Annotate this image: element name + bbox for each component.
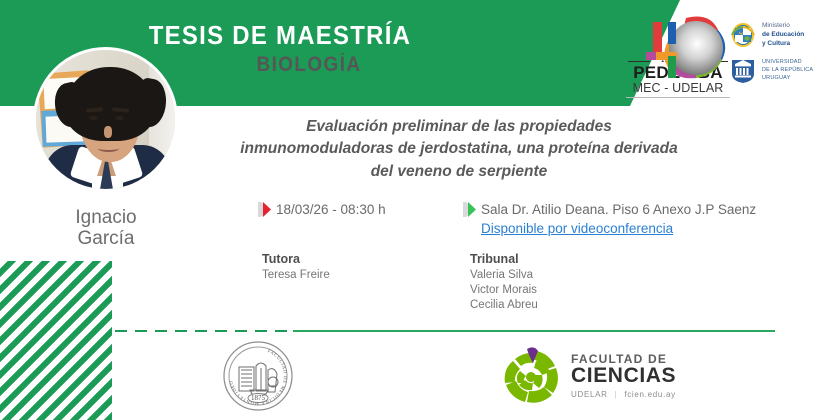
facultad-ciencias-wordmark: FACULTAD DE CIENCIAS UDELAR | fcien.edu.… — [571, 353, 676, 398]
ministry-line3: y Cultura — [762, 40, 804, 49]
student-last-name: García — [10, 229, 202, 250]
arrow-right-red-icon — [258, 202, 271, 217]
ministry-wordmark: Ministerio de Educación y Cultura — [762, 22, 804, 48]
medicina-seal-graphic: FACULTAD DE MEDICINA MONTEVIDEO 1875 — [222, 340, 294, 412]
photo-nose — [104, 126, 112, 138]
ministry-line2: de Educación — [762, 31, 804, 40]
udelar-line2: DE LA REPÚBLICA — [762, 67, 813, 75]
udelar-line3: URUGUAY — [762, 75, 813, 83]
udelar-wordmark: UNIVERSIDAD DE LA REPÚBLICA URUGUAY — [762, 59, 813, 82]
tutora-heading: Tutora — [262, 252, 330, 266]
decorative-diagonal-stripes — [0, 261, 112, 420]
udelar-logo: UNIVERSIDAD DE LA REPÚBLICA URUGUAY — [730, 58, 813, 84]
tribunal-member: Cecilia Abreu — [470, 298, 538, 313]
pedeciba-40-graphic — [624, 12, 732, 96]
photo-eye-left — [89, 116, 98, 120]
svg-text:1875: 1875 — [251, 394, 266, 402]
thesis-title-line1: Evaluación preliminar de las propiedades — [178, 116, 740, 138]
facultad-ciencias-logo: FACULTAD DE CIENCIAS UDELAR | fcien.edu.… — [500, 346, 676, 406]
ministry-line1: Ministerio — [762, 22, 804, 31]
thesis-title-line2: inmunomoduladoras de jerdostatina, una p… — [178, 138, 740, 160]
uruguay-coat-of-arms-icon — [730, 22, 756, 48]
pedeciba-40-logo — [624, 12, 732, 96]
thesis-announcement-poster: TESIS DE MAESTRÍA BIOLOGÍA — [0, 0, 840, 420]
fciencias-line2: CIENCIAS — [571, 365, 676, 387]
thesis-title-line3: del veneno de serpiente — [178, 161, 740, 183]
ministry-logo: Ministerio de Educación y Cultura — [730, 22, 804, 48]
avatar — [33, 47, 178, 192]
photo-eye-right — [115, 116, 124, 120]
event-datetime: 18/03/26 - 08:30 h — [276, 200, 386, 219]
arrow-right-green-icon — [463, 202, 476, 217]
nautilus-shell-icon — [500, 346, 562, 406]
photo-mouth — [98, 145, 119, 152]
event-place: Sala Dr. Atilio Deana. Piso 6 Anexo J.P … — [481, 202, 756, 217]
divider — [115, 330, 775, 332]
event-place-item: Sala Dr. Atilio Deana. Piso 6 Anexo J.P … — [463, 200, 756, 238]
thesis-title: Evaluación preliminar de las propiedades… — [178, 116, 740, 183]
tribunal-block: Tribunal Valeria Silva Victor Morais Cec… — [470, 252, 538, 314]
tribunal-member: Valeria Silva — [470, 268, 538, 283]
student-first-name: Ignacio — [10, 208, 202, 229]
fciencias-separator: | — [615, 390, 618, 399]
fciencias-udelar: UDELAR — [571, 390, 608, 399]
videoconference-link[interactable]: Disponible por videoconferencia — [481, 219, 756, 238]
pedeciba-rule — [626, 97, 730, 98]
udelar-line1: UNIVERSIDAD — [762, 59, 813, 67]
fciencias-line3: UDELAR | fcien.edu.ay — [571, 391, 676, 399]
tutora-block: Tutora Teresa Freire — [262, 252, 330, 283]
page-title: TESIS DE MAESTRÍA — [22, 22, 537, 49]
student-name: Ignacio García — [10, 208, 202, 249]
tutora-name: Teresa Freire — [262, 268, 330, 283]
divider-solid-part — [293, 330, 775, 332]
event-datetime-item: 18/03/26 - 08:30 h — [258, 200, 386, 219]
facultad-medicina-seal: FACULTAD DE MEDICINA MONTEVIDEO 1875 — [222, 340, 294, 412]
divider-dashed-part — [115, 330, 287, 332]
udelar-shield-icon — [730, 58, 756, 84]
tribunal-heading: Tribunal — [470, 252, 538, 266]
fciencias-website: fcien.edu.ay — [624, 390, 676, 399]
tribunal-member: Victor Morais — [470, 283, 538, 298]
